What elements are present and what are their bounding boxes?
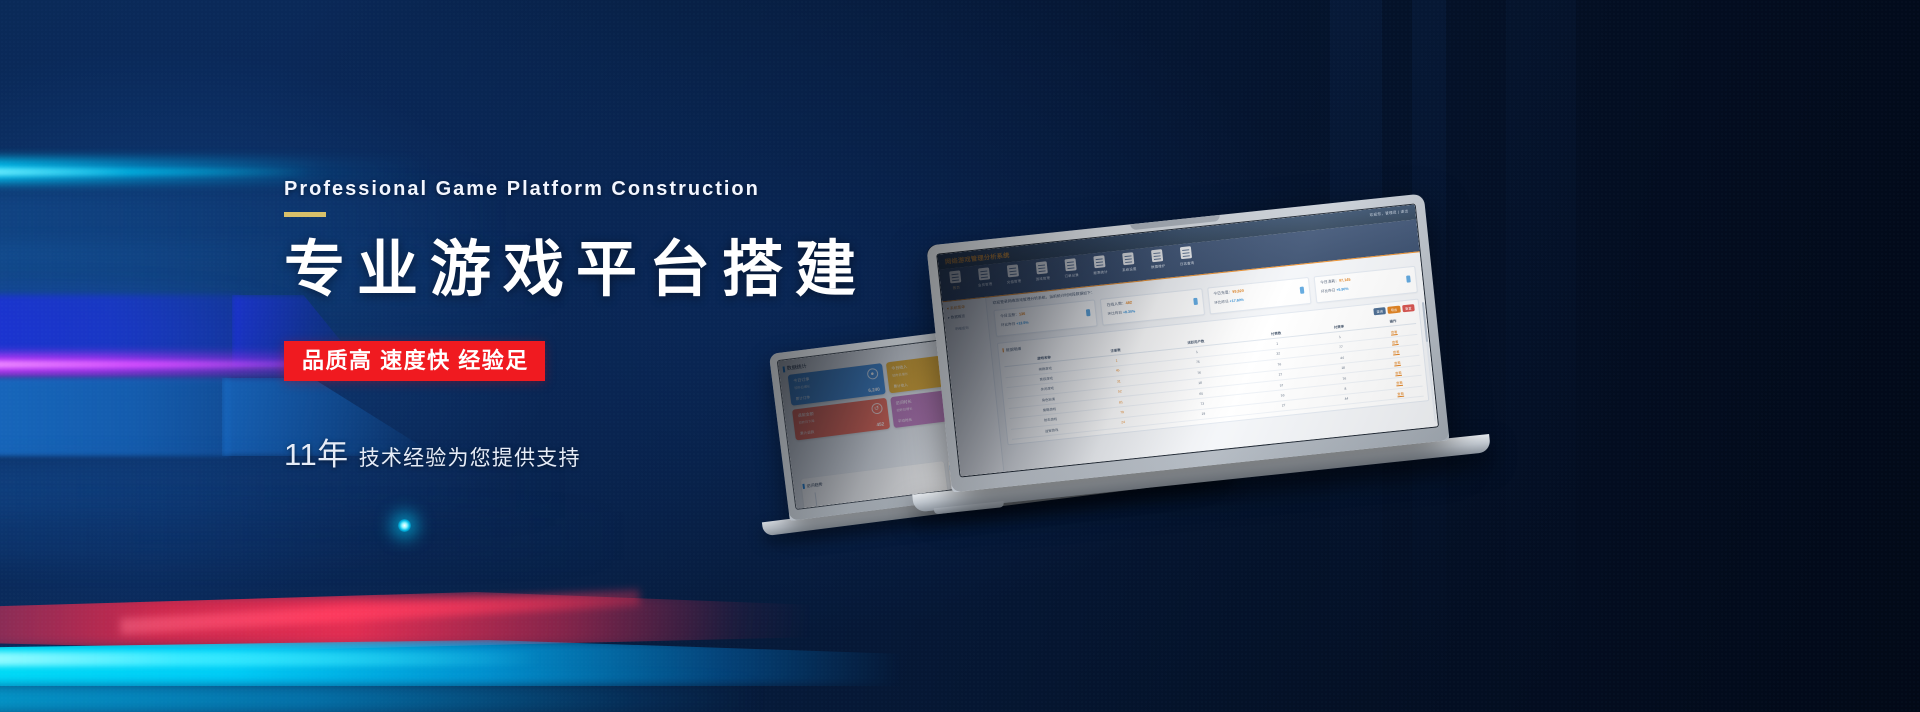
users-icon: [978, 267, 990, 280]
stat-compare-value: +17.60%: [1229, 298, 1244, 303]
stat-compare-value: +5.90%: [1336, 287, 1349, 292]
toolbar-item-orders[interactable]: 订单记录: [1061, 258, 1082, 279]
toolbar-label: 充值管理: [1004, 278, 1023, 285]
stat-value: ¥7,145: [1339, 278, 1351, 283]
toolbar-label: 数据维护: [1148, 263, 1167, 270]
app-user-menu[interactable]: 欢迎您，管理员 | 退出: [1369, 209, 1408, 218]
database-icon: [1151, 249, 1163, 262]
laptop-front-lid: 网络游戏管理分析系统 欢迎您，管理员 | 退出 首页 会员管理: [926, 193, 1449, 492]
trend-icon: [1086, 309, 1091, 316]
query-button[interactable]: 查询: [1373, 307, 1386, 315]
stat-card[interactable]: 在线人数：482 环比昨日 +8.30%: [1100, 288, 1205, 326]
toolbar-label: 报表统计: [1091, 269, 1110, 276]
scrollbar-thumb[interactable]: [1422, 302, 1428, 342]
page-title: 专业游戏平台搭建: [284, 234, 924, 305]
toolbar-item-games[interactable]: 游戏管理: [1032, 261, 1053, 282]
toolbar-item-settings[interactable]: 系统设置: [1118, 252, 1139, 273]
sidebar-item-overview[interactable]: 数据概览: [948, 312, 983, 321]
toolbar-label: 日志查询: [1177, 260, 1196, 267]
stat-label-text: 在线人数：: [1107, 301, 1126, 307]
trend-icon: [1299, 287, 1304, 294]
eyebrow-rule: [284, 212, 326, 217]
stat-compare-label: 环比昨日: [1214, 299, 1229, 304]
data-table: 游戏名称 注册数 活跃用户数 付费数 付费率 操作: [1003, 314, 1423, 440]
toolbar-item-members[interactable]: 会员管理: [974, 267, 995, 288]
toolbar-label: 系统设置: [1120, 266, 1139, 273]
export-button[interactable]: 导出: [1387, 306, 1400, 314]
wallet-icon: [1007, 264, 1019, 277]
toolbar-label: 游戏管理: [1033, 275, 1052, 282]
stat-label-text: 今日充值：: [1213, 290, 1232, 296]
order-icon: [1064, 258, 1076, 271]
sidebar-header: 系统菜单: [947, 302, 982, 312]
gear-icon: [1122, 252, 1134, 265]
log-icon: [1180, 246, 1192, 259]
toolbar-label: 首页: [947, 284, 966, 291]
stat-compare-value: +12.5%: [1016, 320, 1029, 325]
trend-icon: [1406, 275, 1411, 282]
trend-icon: [1193, 298, 1198, 305]
stat-compare-label: 环比昨日: [1001, 322, 1016, 327]
stat-card[interactable]: 今日注册：136 环比昨日 +12.5%: [993, 299, 1098, 337]
laptop-front: 网络游戏管理分析系统 欢迎您，管理员 | 退出 首页 会员管理: [926, 193, 1452, 516]
home-icon: [949, 270, 961, 283]
stat-compare-value: +8.30%: [1123, 309, 1136, 314]
stat-card[interactable]: 今日充值：¥9,820 环比昨日 +17.60%: [1207, 277, 1312, 315]
years-value: 11年: [284, 437, 349, 472]
laptop-front-screen: 网络游戏管理分析系统 欢迎您，管理员 | 退出 首页 会员管理: [936, 203, 1439, 477]
toolbar-label: 订单记录: [1062, 272, 1081, 279]
eyebrow-text: Professional Game Platform Construction: [284, 178, 924, 201]
stat-compare-label: 环比昨日: [1107, 311, 1122, 316]
chart-icon: [1093, 255, 1105, 268]
reset-button[interactable]: 重置: [1402, 304, 1415, 312]
subtitle-line: 11年技术经验为您提供支持: [284, 429, 924, 474]
toolbar-item-logs[interactable]: 日志查询: [1176, 246, 1197, 267]
promo-banner: Professional Game Platform Construction …: [0, 0, 1920, 712]
toolbar-item-recharge[interactable]: 充值管理: [1003, 264, 1024, 285]
toolbar-item-maintenance[interactable]: 数据维护: [1147, 249, 1168, 270]
game-icon: [1036, 261, 1048, 274]
toolbar-label: 会员管理: [975, 281, 994, 288]
stat-value: 482: [1125, 301, 1132, 306]
stat-compare-label: 环比昨日: [1321, 288, 1336, 293]
subtitle-text: 技术经验为您提供支持: [359, 447, 581, 470]
stat-label-text: 今日消耗：: [1320, 279, 1339, 285]
stat-label-text: 今日注册：: [1000, 312, 1019, 318]
status-badge: 品质高 速度快 经验足: [284, 341, 545, 381]
toolbar-item-home[interactable]: 首页: [945, 270, 966, 291]
admin-app: 网络游戏管理分析系统 欢迎您，管理员 | 退出 首页 会员管理: [937, 204, 1438, 476]
toolbar-item-reports[interactable]: 报表统计: [1089, 255, 1110, 276]
sidebar-item-detail[interactable]: 明细查询: [955, 323, 984, 331]
stat-value: ¥9,820: [1232, 289, 1244, 294]
stat-card[interactable]: 今日消耗：¥7,145 环比昨日 +5.90%: [1313, 266, 1418, 304]
stat-value: 136: [1019, 312, 1026, 317]
headline-copy-block: Professional Game Platform Construction …: [284, 178, 924, 474]
table-title: 数据明细: [1002, 346, 1021, 353]
